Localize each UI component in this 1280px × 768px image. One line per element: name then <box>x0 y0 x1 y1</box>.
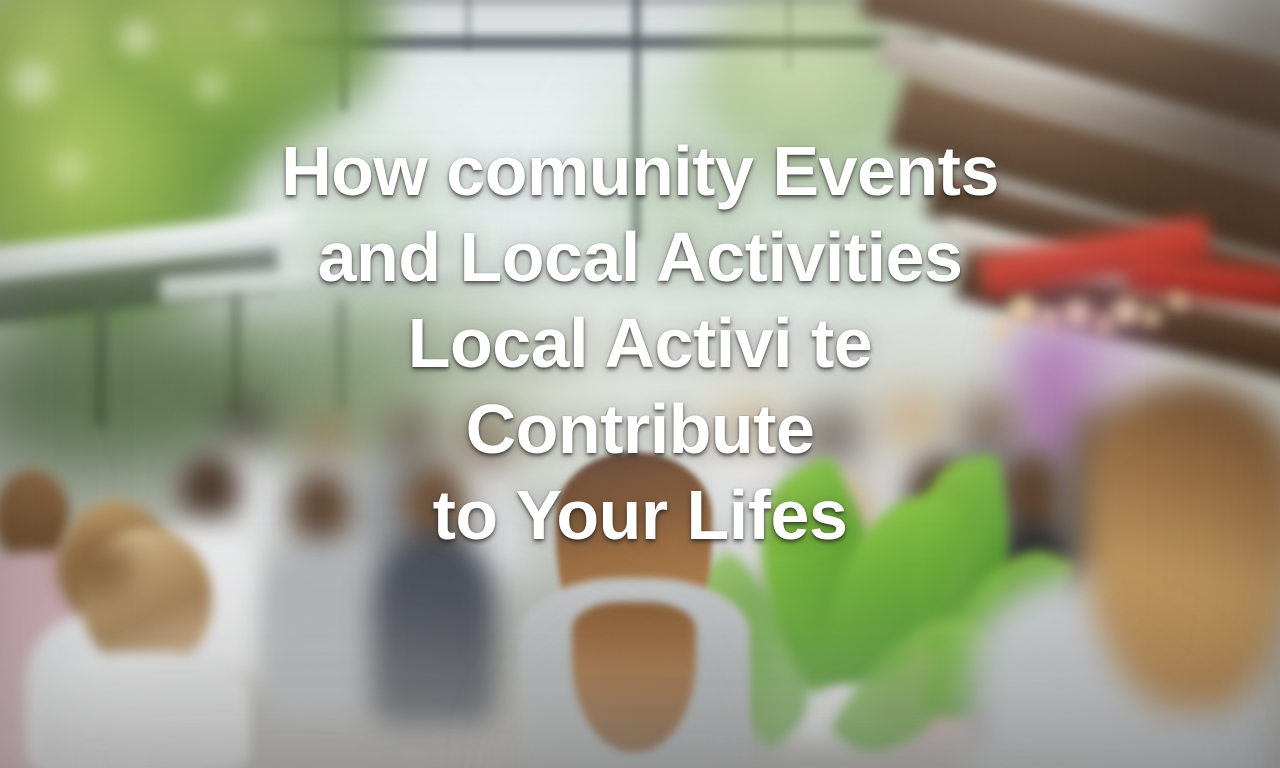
string-light-bokeh <box>1140 306 1162 328</box>
foliage-highlight <box>50 150 88 188</box>
window-mullion-vertical <box>465 0 471 50</box>
foliage-highlight <box>10 60 54 104</box>
person-head <box>290 470 352 546</box>
string-light-bokeh <box>1008 296 1038 326</box>
string-light-bokeh <box>1168 292 1188 312</box>
string-light-bokeh <box>990 318 1012 340</box>
person-head <box>886 392 940 454</box>
person-head <box>402 462 466 540</box>
hero-banner: How comunity Events and Local Activities… <box>0 0 1280 768</box>
foliage-highlight <box>196 72 226 102</box>
foliage-highlight <box>240 10 266 36</box>
person-head <box>386 404 434 460</box>
background-photo <box>0 0 1280 768</box>
hair-bun <box>62 538 134 602</box>
foliage-highlight <box>120 20 154 54</box>
